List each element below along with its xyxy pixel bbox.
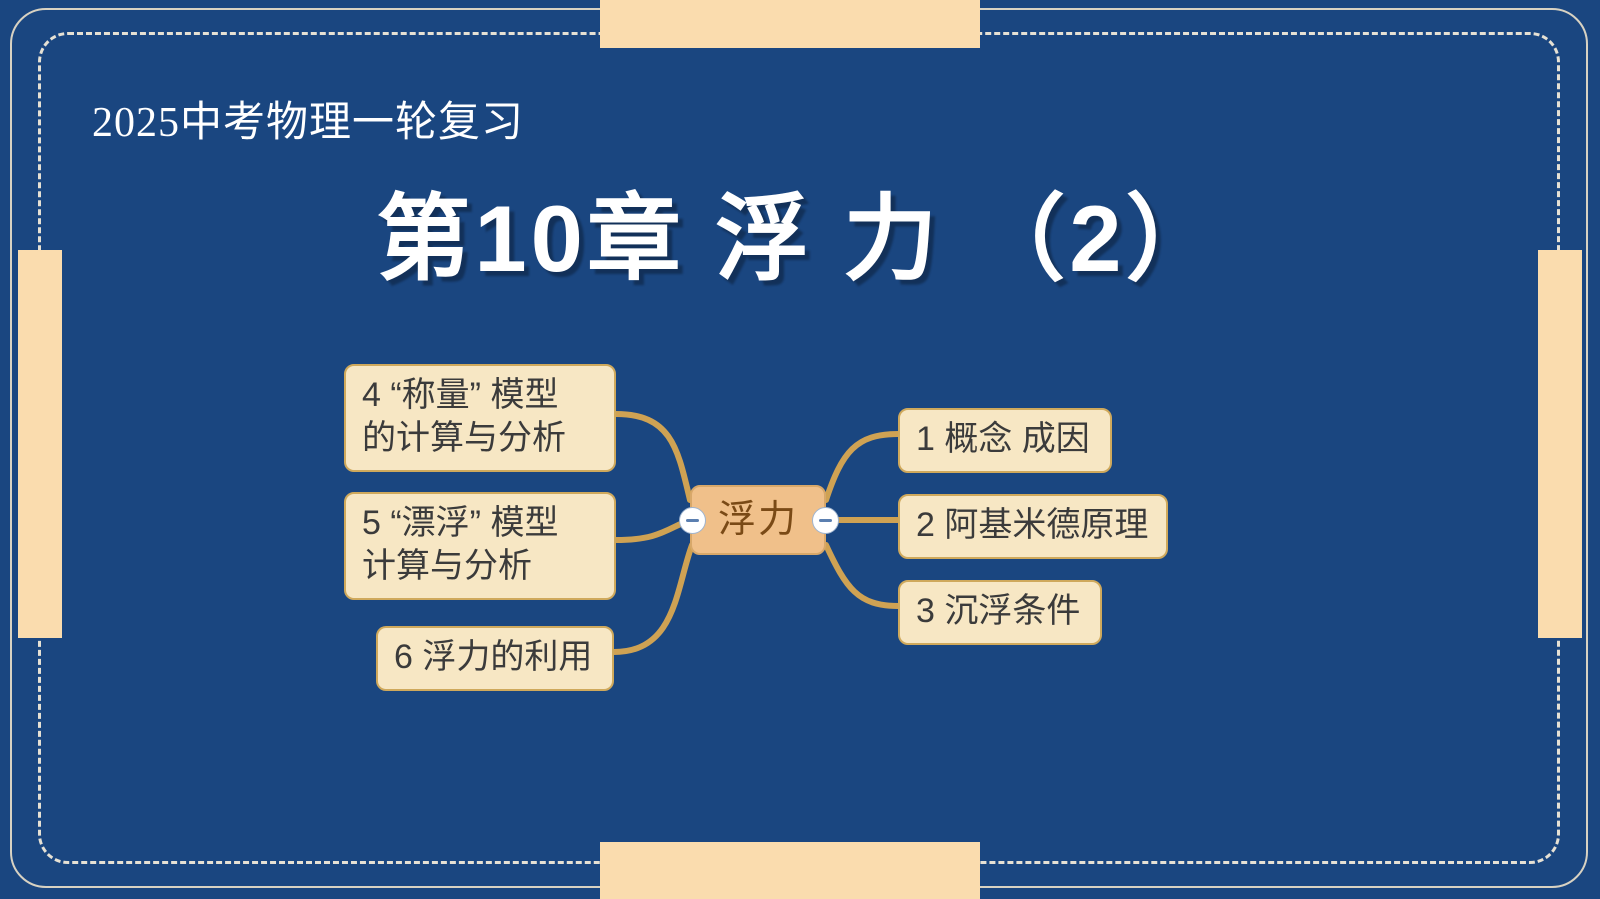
edge-center-to-node1: [826, 434, 898, 500]
mindmap-connectors: [0, 0, 1600, 899]
mindmap-center-node[interactable]: 浮力: [690, 485, 826, 555]
mindmap: 4 “称量” 模型 的计算与分析 5 “漂浮” 模型 计算与分析 6 浮力的利用…: [0, 0, 1600, 899]
collapse-minus-icon-left[interactable]: [679, 507, 706, 534]
mindmap-node-1[interactable]: 1 概念 成因: [898, 408, 1112, 473]
mindmap-node-5[interactable]: 5 “漂浮” 模型 计算与分析: [344, 492, 616, 600]
mindmap-node-4[interactable]: 4 “称量” 模型 的计算与分析: [344, 364, 616, 472]
slide-canvas: 2025中考物理一轮复习 第10章 浮 力 （2） 4 “称量” 模型 的计算与…: [0, 0, 1600, 899]
collapse-minus-icon-right[interactable]: [812, 507, 839, 534]
mindmap-node-6[interactable]: 6 浮力的利用: [376, 626, 614, 691]
edge-center-to-node6: [614, 545, 692, 652]
edge-center-to-node3: [826, 545, 898, 606]
mindmap-node-3[interactable]: 3 沉浮条件: [898, 580, 1102, 645]
mindmap-node-2[interactable]: 2 阿基米德原理: [898, 494, 1168, 559]
edge-center-to-node4: [616, 414, 690, 500]
